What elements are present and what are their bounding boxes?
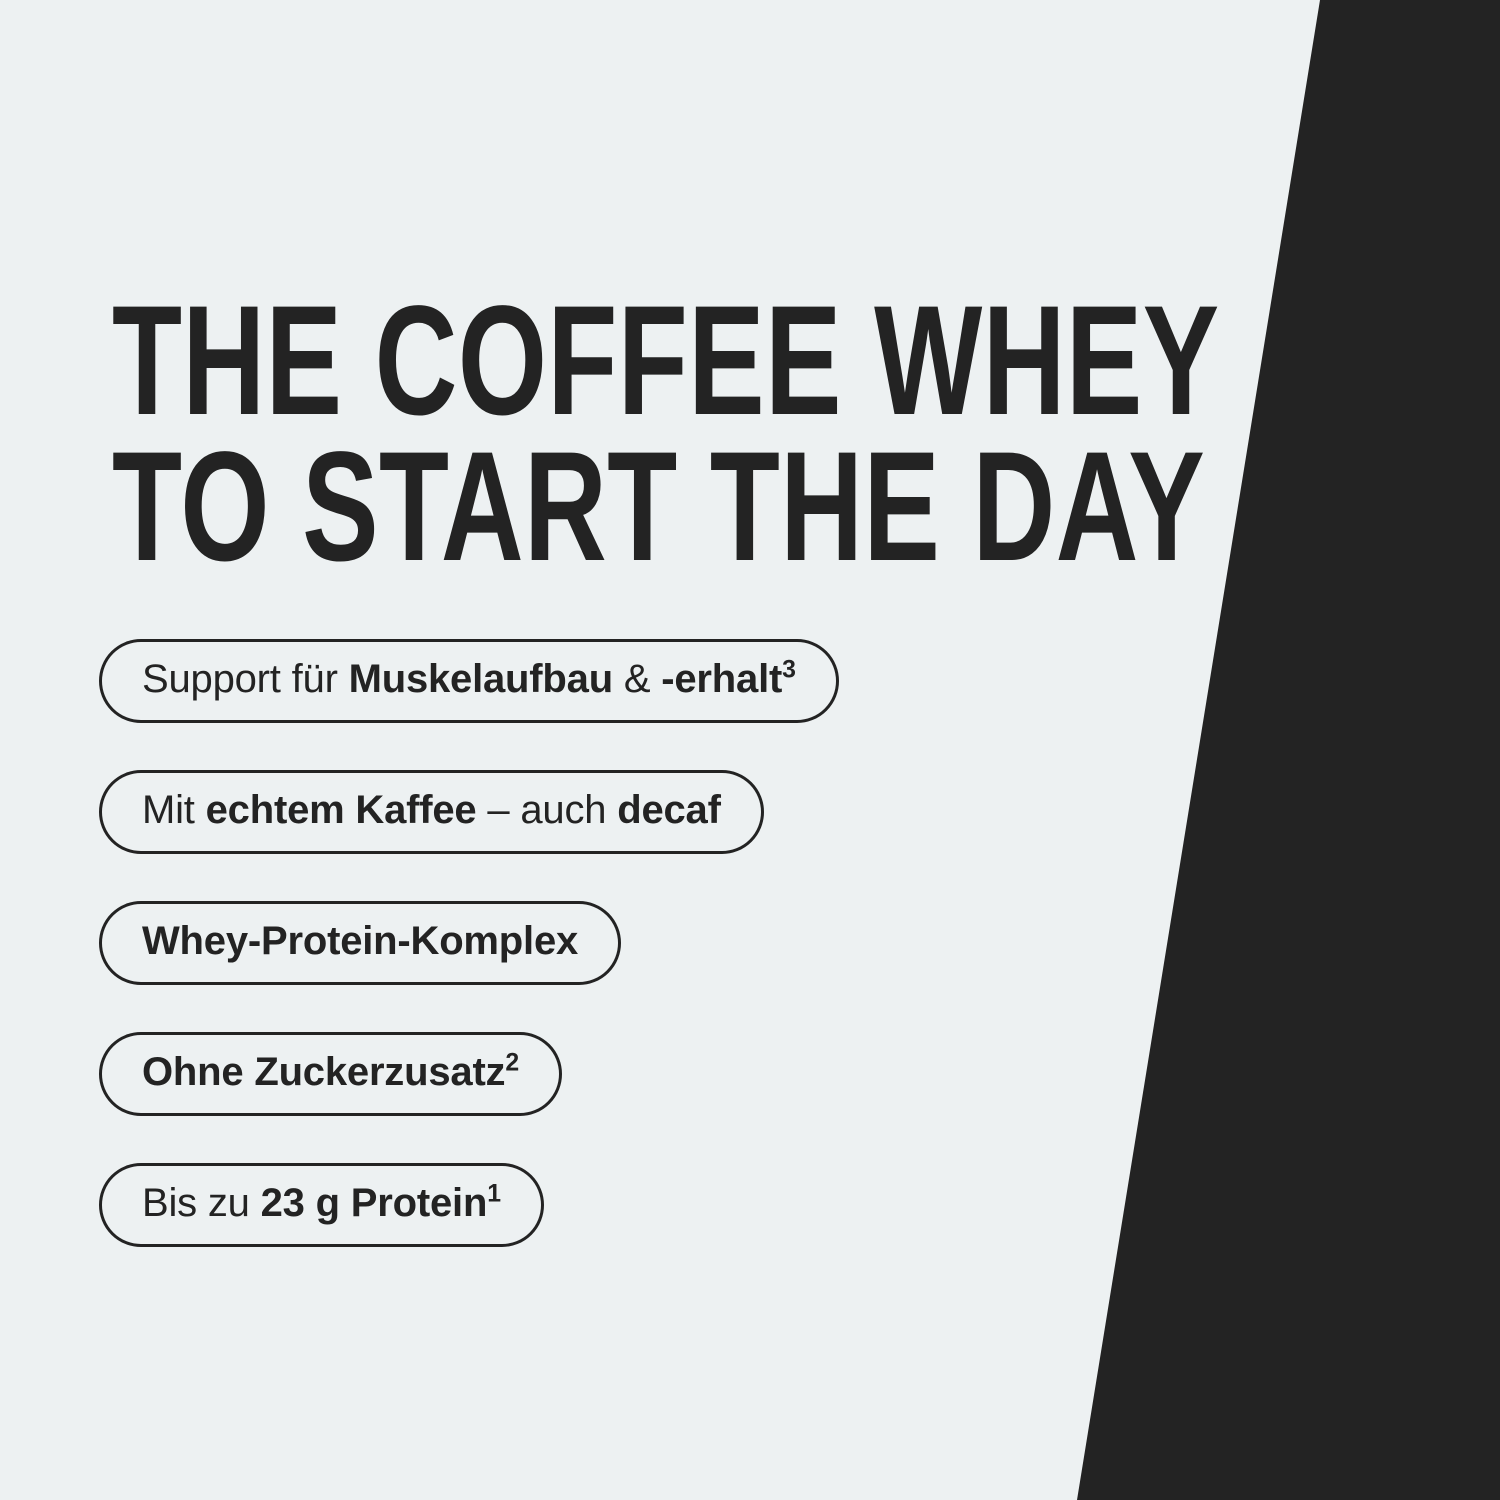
pill-label: Bis zu 23 g Protein1 [142,1183,501,1223]
pill-bis-zu-23g-protein: Bis zu 23 g Protein1 [99,1163,544,1247]
pill-text-run: & [613,657,661,701]
pill-label: Support für Muskelaufbau & -erhalt3 [142,659,796,699]
pill-whey-protein-komplex: Whey-Protein-Komplex [99,901,621,985]
pill-label: Whey-Protein-Komplex [142,921,578,961]
pill-text-run: echtem Kaffee [206,788,477,832]
pill-footnote-marker: 2 [505,1050,519,1077]
pill-text-run: -erhalt [661,657,782,701]
pill-text-run: 23 g Protein [261,1181,488,1225]
headline-line-2: TO START THE DAY [112,434,847,580]
pill-text-run: Bis zu [142,1181,261,1225]
feature-pill-list: Support für Muskelaufbau & -erhalt3Mit e… [99,639,839,1294]
headline-line-1: THE COFFEE WHEY [112,288,847,434]
pill-text-run: decaf [617,788,721,832]
promo-banner: THE COFFEE WHEY TO START THE DAY Support… [0,0,1500,1500]
pill-muskelaufbau: Support für Muskelaufbau & -erhalt3 [99,639,839,723]
pill-label: Ohne Zuckerzusatz2 [142,1052,519,1092]
page-title: THE COFFEE WHEY TO START THE DAY [112,288,1112,580]
pill-label: Mit echtem Kaffee – auch decaf [142,790,721,830]
pill-footnote-marker: 1 [487,1181,501,1208]
pill-text-run: Whey-Protein-Komplex [142,919,578,963]
pill-text-run: Mit [142,788,206,832]
pill-ohne-zuckerzusatz: Ohne Zuckerzusatz2 [99,1032,562,1116]
wedge-polygon [1077,0,1500,1500]
pill-text-run: Support für [142,657,349,701]
pill-text-run: – auch [476,788,617,832]
pill-echter-kaffee: Mit echtem Kaffee – auch decaf [99,770,764,854]
pill-text-run: Ohne Zuckerzusatz [142,1050,505,1094]
pill-footnote-marker: 3 [782,657,796,684]
pill-text-run: Muskelaufbau [349,657,613,701]
